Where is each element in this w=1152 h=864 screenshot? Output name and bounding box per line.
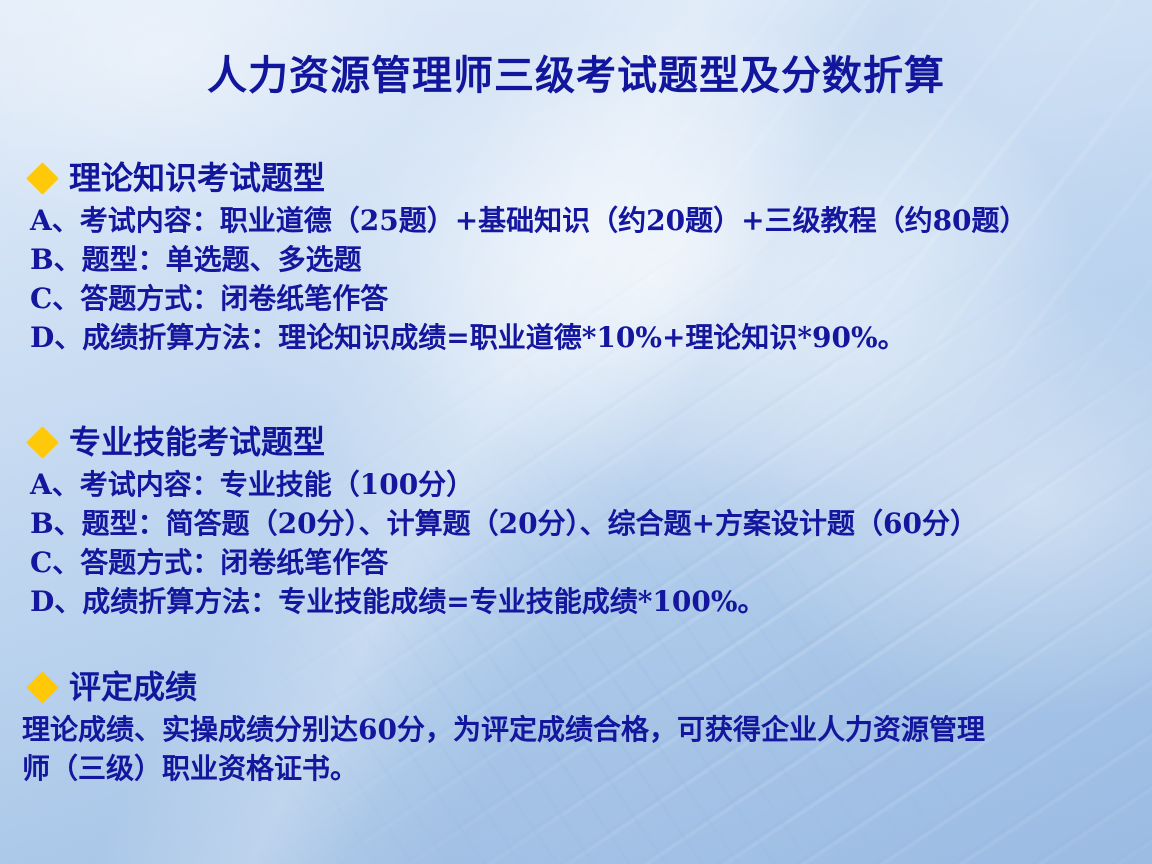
slide-content: 人力资源管理师三级考试题型及分数折算 理论知识考试题型 A、考试内容：职业道德（… [0, 0, 1152, 864]
body-line: A、考试内容：职业道德（25题）+基础知识（约20题）+三级教程（约80题） [30, 201, 1142, 240]
body-line: 师（三级）职业资格证书。 [22, 749, 1142, 788]
body-line: B、题型：简答题（20分）、计算题（20分）、综合题+方案设计题（60分） [30, 504, 1142, 543]
body-line: C、答题方式：闭卷纸笔作答 [30, 543, 1142, 582]
section-heading-label: 评定成绩 [69, 669, 197, 705]
section-heading-row: 专业技能考试题型 [22, 421, 1142, 463]
body-line: C、答题方式：闭卷纸笔作答 [30, 279, 1142, 318]
section-theory-exam: 理论知识考试题型 A、考试内容：职业道德（25题）+基础知识（约20题）+三级教… [22, 157, 1142, 357]
section-grade-evaluation: 评定成绩 理论成绩、实操成绩分别达60分，为评定成绩合格，可获得企业人力资源管理… [22, 666, 1142, 788]
diamond-bullet-icon [26, 426, 59, 459]
section-heading-label: 专业技能考试题型 [69, 424, 325, 460]
section-heading-label: 理论知识考试题型 [69, 160, 325, 196]
diamond-bullet-icon [26, 671, 59, 704]
body-line: A、考试内容：专业技能（100分） [30, 465, 1142, 504]
presentation-slide: 人力资源管理师三级考试题型及分数折算 理论知识考试题型 A、考试内容：职业道德（… [0, 0, 1152, 864]
diamond-bullet-icon [26, 162, 59, 195]
section-heading-row: 理论知识考试题型 [22, 157, 1142, 199]
body-line: D、成绩折算方法：专业技能成绩=专业技能成绩*100%。 [30, 582, 1142, 621]
section-heading-row: 评定成绩 [22, 666, 1142, 708]
section-skills-exam: 专业技能考试题型 A、考试内容：专业技能（100分） B、题型：简答题（20分）… [22, 421, 1142, 621]
slide-title: 人力资源管理师三级考试题型及分数折算 [0, 50, 1152, 102]
body-line: D、成绩折算方法：理论知识成绩=职业道德*10%+理论知识*90%。 [30, 318, 1142, 357]
body-line: 理论成绩、实操成绩分别达60分，为评定成绩合格，可获得企业人力资源管理 [22, 710, 1142, 749]
body-line: B、题型：单选题、多选题 [30, 240, 1142, 279]
